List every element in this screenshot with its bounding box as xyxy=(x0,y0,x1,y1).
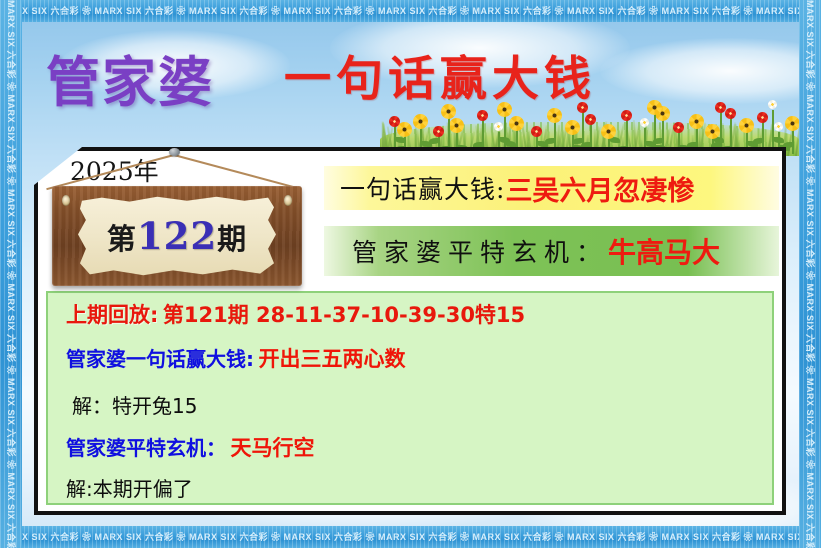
border-strip-top: MARX SIX 六合彩 ❀ MARX SIX 六合彩 ❀ MARX SIX 六… xyxy=(0,0,821,22)
issue-suffix: 期 xyxy=(217,222,247,256)
issue-number-text: 第122期 xyxy=(107,214,247,258)
sign-hole-left-icon xyxy=(62,195,70,206)
flower-bloom xyxy=(477,110,488,121)
flower-bloom xyxy=(577,102,588,113)
flower-bloom xyxy=(774,122,783,131)
content-box: 上期回放: 第121期 28-11-37-10-39-30特15 管家婆一句话赢… xyxy=(46,291,774,505)
row-phrase: 管家婆一句话赢大钱: 开出三五两心数 xyxy=(66,343,405,373)
flower-bloom xyxy=(433,126,444,137)
banner-secret-label: 管家婆平特玄机： xyxy=(352,233,608,269)
flower-bloom xyxy=(725,108,736,119)
banner-phrase-label: 一句话赢大钱: xyxy=(340,170,505,206)
banner-secret-green: 管家婆平特玄机： 牛高马大 xyxy=(324,226,779,276)
flower-bloom xyxy=(757,112,768,123)
phrase-value: 开出三五两心数 xyxy=(258,347,405,371)
flower-bloom xyxy=(601,124,616,139)
flower-bloom xyxy=(739,118,754,133)
banner-secret-value: 牛高马大 xyxy=(608,231,720,271)
lottery-poster: MARX SIX 六合彩 ❀ MARX SIX 六合彩 ❀ MARX SIX 六… xyxy=(0,0,821,548)
border-strip-left: MARX SIX 六合彩 ❀ MARX SIX 六合彩 ❀ MARX SIX 六… xyxy=(0,0,22,548)
flower-leaf xyxy=(773,137,784,143)
flower-bloom xyxy=(673,122,684,133)
secret-value: 天马行空 xyxy=(230,436,314,460)
row-last-draw: 上期回放: 第121期 28-11-37-10-39-30特15 xyxy=(66,299,525,329)
flower-bloom xyxy=(640,118,649,127)
banner-phrase-value: 三吴六月忽凄惨 xyxy=(505,169,694,208)
flower-bloom xyxy=(494,122,503,131)
issue-prefix: 第 xyxy=(107,222,137,256)
hanging-sign: 第122期 xyxy=(52,148,302,288)
phrase-answer: 解：特开兔15 xyxy=(72,390,197,419)
secret-answer: 解:本期开偏了 xyxy=(66,473,193,502)
flower-bloom xyxy=(413,114,428,129)
sign-nail-icon xyxy=(169,148,180,156)
sign-board: 第122期 xyxy=(52,186,302,286)
issue-number: 122 xyxy=(137,214,217,258)
flower-leaf xyxy=(395,137,406,143)
sign-rope-left xyxy=(46,154,174,190)
border-strip-text: MARX SIX 六合彩 ❀ MARX SIX 六合彩 ❀ MARX SIX 六… xyxy=(0,0,821,22)
flower-bloom xyxy=(565,120,580,135)
border-strip-text: MARX SIX 六合彩 ❀ MARX SIX 六合彩 ❀ MARX SIX 六… xyxy=(0,0,22,548)
flower-bloom xyxy=(785,116,800,131)
flower-bloom xyxy=(647,100,662,115)
row-secret: 管家婆平特玄机： 天马行空 xyxy=(66,432,314,462)
flower-bloom xyxy=(531,126,542,137)
last-draw-label: 上期回放: xyxy=(66,303,158,327)
sign-paper: 第122期 xyxy=(78,196,276,276)
flower-bloom xyxy=(441,104,456,119)
border-strip-text: MARX SIX 六合彩 ❀ MARX SIX 六合彩 ❀ MARX SIX 六… xyxy=(799,0,821,548)
flower-bloom xyxy=(509,116,524,131)
banner-phrase-yellow: 一句话赢大钱: 三吴六月忽凄惨 xyxy=(324,166,779,210)
border-strip-bottom: MARX SIX 六合彩 ❀ MARX SIX 六合彩 ❀ MARX SIX 六… xyxy=(0,526,821,548)
flower-bloom xyxy=(389,116,400,127)
flower-bloom xyxy=(547,108,562,123)
flower-bloom xyxy=(449,118,464,133)
flower-bloom xyxy=(705,124,720,139)
border-strip-text: MARX SIX 六合彩 ❀ MARX SIX 六合彩 ❀ MARX SIX 六… xyxy=(0,526,821,548)
sign-hole-right-icon xyxy=(284,195,292,206)
flower-bloom xyxy=(768,100,777,109)
flower-bloom xyxy=(621,110,632,121)
flower-bloom xyxy=(715,102,726,113)
flower-bloom xyxy=(497,102,512,117)
flower-leaf xyxy=(505,141,516,147)
last-draw-value: 第121期 28-11-37-10-39-30特15 xyxy=(163,303,525,327)
secret-label: 管家婆平特玄机： xyxy=(66,436,226,460)
border-strip-right: MARX SIX 六合彩 ❀ MARX SIX 六合彩 ❀ MARX SIX 六… xyxy=(799,0,821,548)
flower-bloom xyxy=(585,114,596,125)
sign-rope-right xyxy=(174,154,302,190)
flower-bloom xyxy=(689,114,704,129)
phrase-label: 管家婆一句话赢大钱: xyxy=(66,347,254,371)
brand-title: 管家婆 xyxy=(46,38,214,117)
